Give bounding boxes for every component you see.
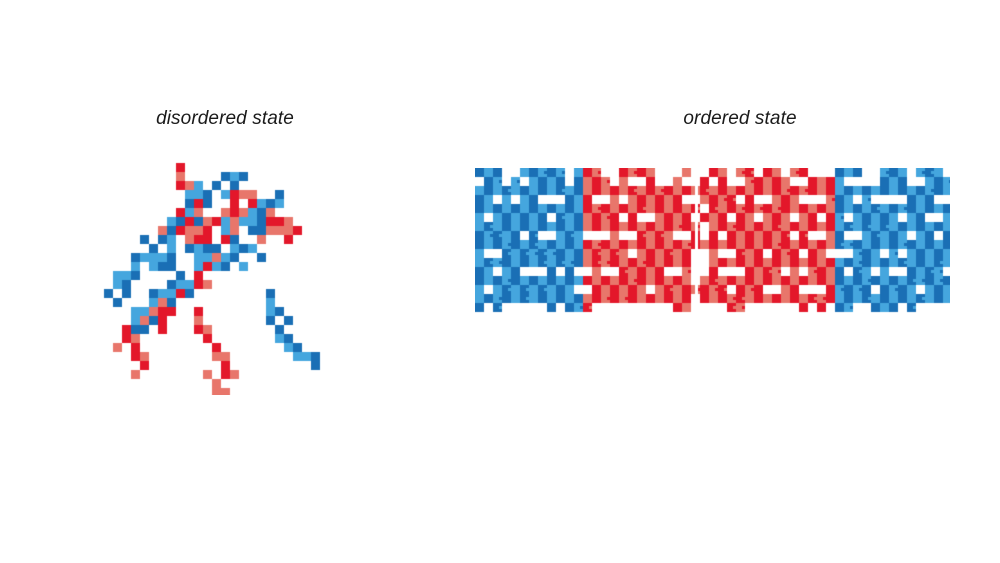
disordered-chain-illustration [95,145,355,395]
panel-disordered: disordered state [90,100,360,400]
figure-root: disordered state ordered state [0,0,1000,563]
ordered-state-label: ordered state [600,108,880,130]
ordered-lamellae-illustration [475,168,950,318]
disordered-state-label: disordered state [90,108,360,130]
